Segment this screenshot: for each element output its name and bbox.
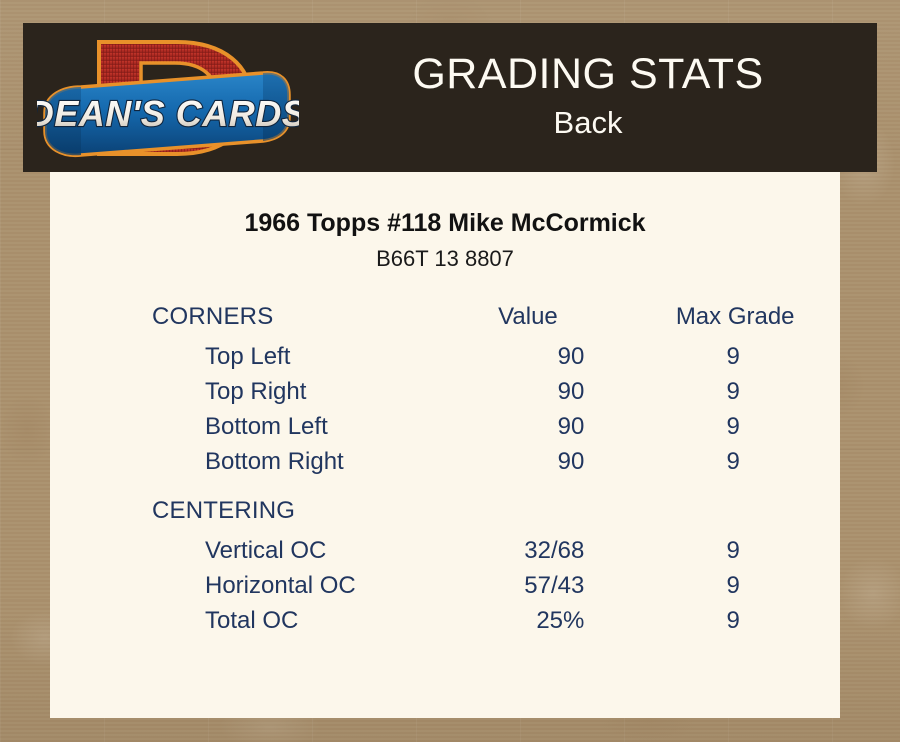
row-label: Total OC (50, 607, 440, 642)
page-title: GRADING STATS (412, 49, 763, 99)
page-subtitle: Back (554, 103, 623, 143)
row-value: 32/68 (440, 537, 635, 572)
row-label: Vertical OC (50, 537, 440, 572)
column-header-max-grade: Max Grade (634, 303, 840, 343)
table-row: Horizontal OC 57/43 9 (50, 572, 840, 607)
row-max-grade: 9 (634, 537, 840, 572)
row-value: 25% (440, 607, 635, 642)
row-max-grade: 9 (634, 378, 840, 413)
row-max-grade: 9 (634, 343, 840, 378)
row-max-grade: 9 (634, 413, 840, 448)
table-row: Top Left 90 9 (50, 343, 840, 378)
section-heading-centering: CENTERING (50, 497, 440, 537)
grading-stats-table: CORNERS Value Max Grade Top Left 90 9 To… (50, 303, 840, 642)
row-max-grade: 9 (634, 448, 840, 483)
table-row: Total OC 25% 9 (50, 607, 840, 642)
section-spacer (50, 483, 840, 497)
row-label: Top Left (50, 343, 440, 378)
column-header-value: Value (440, 303, 635, 343)
row-value: 90 (440, 378, 635, 413)
row-value: 90 (440, 413, 635, 448)
table-section-header-centering: CENTERING (50, 497, 840, 537)
content-panel: 1966 Topps #118 Mike McCormick B66T 13 8… (50, 172, 840, 718)
deans-cards-logo[interactable]: DEAN'S CARDS (37, 25, 299, 171)
row-value: 57/43 (440, 572, 635, 607)
row-max-grade: 9 (634, 572, 840, 607)
row-label: Horizontal OC (50, 572, 440, 607)
card-code: B66T 13 8807 (50, 238, 840, 272)
row-value: 90 (440, 448, 635, 483)
table-row: Bottom Right 90 9 (50, 448, 840, 483)
deans-cards-logo-wordmark: DEAN'S CARDS (37, 93, 299, 134)
row-value: 90 (440, 343, 635, 378)
row-label: Top Right (50, 378, 440, 413)
table-section-header-corners: CORNERS Value Max Grade (50, 303, 840, 343)
row-max-grade: 9 (634, 607, 840, 642)
header-bar: DEAN'S CARDS GRADING STATS Back (23, 23, 877, 172)
table-row: Top Right 90 9 (50, 378, 840, 413)
row-label: Bottom Left (50, 413, 440, 448)
deans-cards-logo-graphic: DEAN'S CARDS (37, 25, 299, 171)
column-spacer-max-grade (634, 497, 840, 537)
table-row: Vertical OC 32/68 9 (50, 537, 840, 572)
table-row: Bottom Left 90 9 (50, 413, 840, 448)
column-spacer-value (440, 497, 635, 537)
row-label: Bottom Right (50, 448, 440, 483)
card-title: 1966 Topps #118 Mike McCormick (50, 172, 840, 238)
section-heading-corners: CORNERS (50, 303, 440, 343)
header-titles: GRADING STATS Back (299, 23, 877, 172)
